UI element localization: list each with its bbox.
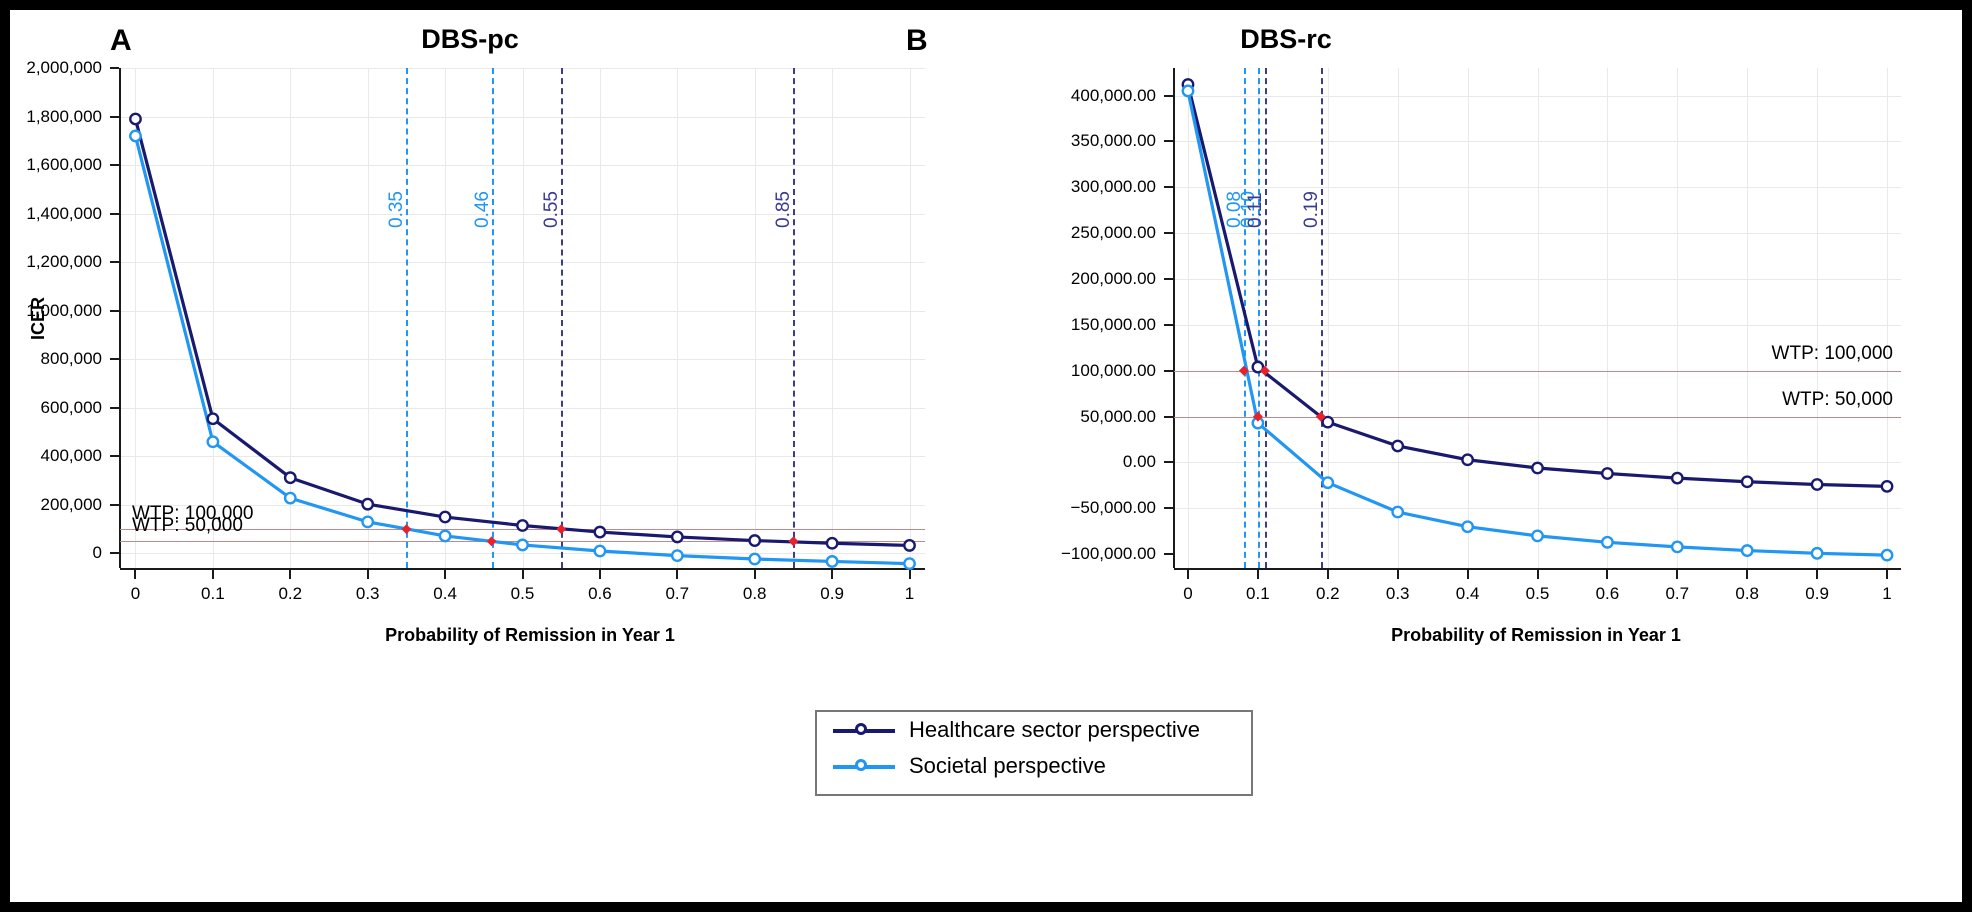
y-axis-tick — [1164, 416, 1173, 418]
series-marker — [1812, 548, 1822, 558]
intersection-marker — [487, 536, 497, 546]
y-axis-tick — [1164, 278, 1173, 280]
series-marker — [595, 527, 605, 537]
y-axis-tick-label: 100,000.00 — [990, 361, 1156, 381]
series-marker — [130, 131, 140, 141]
y-axis-tick — [110, 261, 119, 263]
x-axis-tick — [1606, 570, 1608, 579]
series-marker — [1742, 545, 1752, 555]
series-layer — [120, 68, 925, 568]
y-axis-tick — [1164, 370, 1173, 372]
panel-a-letter: A — [110, 24, 132, 58]
x-axis-tick — [754, 570, 756, 579]
x-axis-tick — [212, 570, 214, 579]
series-marker — [827, 556, 837, 566]
y-axis-tick — [1164, 553, 1173, 555]
figure-frame: A DBS-pc ICER Probability of Remission i… — [0, 0, 1972, 912]
x-axis-tick-label: 0.8 — [1735, 584, 1759, 604]
y-axis-tick — [110, 116, 119, 118]
panel-b-title: DBS-rc — [1076, 24, 1496, 55]
series-marker — [1602, 537, 1612, 547]
series-marker — [1183, 86, 1193, 96]
x-axis-tick — [367, 570, 369, 579]
series-marker — [517, 540, 527, 550]
legend-line-marker-icon — [833, 720, 895, 740]
x-axis-tick — [1886, 570, 1888, 579]
intersection-marker — [401, 524, 411, 534]
x-axis-tick-label: 0.6 — [588, 584, 612, 604]
y-axis-tick-label: −100,000.00 — [990, 544, 1156, 564]
x-axis-tick — [676, 570, 678, 579]
panel-b-letter: B — [906, 24, 928, 58]
series-marker — [672, 550, 682, 560]
x-axis-tick-label: 0.9 — [1805, 584, 1829, 604]
series-marker — [285, 493, 295, 503]
x-axis-tick — [909, 570, 911, 579]
legend: Healthcare sector perspectiveSocietal pe… — [815, 710, 1253, 796]
series-marker — [1812, 479, 1822, 489]
series-marker — [904, 540, 914, 550]
y-axis-tick-label: 1,000,000 — [14, 301, 102, 321]
y-axis-tick-label: 400,000 — [14, 446, 102, 466]
x-axis-tick — [1816, 570, 1818, 579]
series-marker — [1882, 481, 1892, 491]
x-axis-tick-label: 0.1 — [201, 584, 225, 604]
series-marker — [1323, 417, 1333, 427]
x-axis-tick-label: 0.2 — [1316, 584, 1340, 604]
y-axis-tick — [1164, 186, 1173, 188]
y-axis-tick-label: 150,000.00 — [990, 315, 1156, 335]
series-marker — [362, 499, 372, 509]
x-axis-tick — [1257, 570, 1259, 579]
intersection-marker — [788, 536, 798, 546]
y-axis-tick-label: 200,000.00 — [990, 269, 1156, 289]
x-axis-tick — [1467, 570, 1469, 579]
y-axis-tick-label: 2,000,000 — [14, 58, 102, 78]
x-axis-tick — [1746, 570, 1748, 579]
x-axis-tick — [1327, 570, 1329, 579]
series-marker — [285, 473, 295, 483]
y-axis-tick — [110, 358, 119, 360]
x-axis-tick-label: 0.1 — [1246, 584, 1270, 604]
series-marker — [517, 520, 527, 530]
y-axis-tick-label: 1,600,000 — [14, 155, 102, 175]
series-line — [1188, 91, 1887, 555]
series-marker — [208, 414, 218, 424]
series-marker — [595, 546, 605, 556]
y-axis-tick-label: 200,000 — [14, 495, 102, 515]
y-axis-tick — [110, 213, 119, 215]
x-axis-tick — [831, 570, 833, 579]
y-axis-tick-label: 50,000.00 — [990, 407, 1156, 427]
series-layer — [1174, 68, 1901, 568]
y-axis-tick — [1164, 461, 1173, 463]
series-marker — [1392, 441, 1402, 451]
series-marker — [1672, 542, 1682, 552]
y-axis-tick — [1164, 232, 1173, 234]
series-marker — [130, 114, 140, 124]
y-axis-tick — [110, 504, 119, 506]
y-axis-tick-label: −50,000.00 — [990, 498, 1156, 518]
x-axis-tick — [1676, 570, 1678, 579]
x-axis-tick-label: 1 — [905, 584, 914, 604]
x-axis-tick-label: 0 — [1183, 584, 1192, 604]
series-marker — [904, 558, 914, 568]
panel-a-plot-area: 0200,000400,000600,000800,0001,000,0001,… — [120, 68, 925, 568]
x-axis-tick-label: 1 — [1882, 584, 1891, 604]
x-axis-tick-label: 0 — [131, 584, 140, 604]
series-marker — [440, 531, 450, 541]
x-axis-tick — [1397, 570, 1399, 579]
series-marker — [208, 437, 218, 447]
y-axis-tick — [1164, 324, 1173, 326]
y-axis-tick-label: 600,000 — [14, 398, 102, 418]
series-marker — [1742, 477, 1752, 487]
x-axis-tick — [522, 570, 524, 579]
series-marker — [1672, 473, 1682, 483]
y-axis-tick-label: 1,800,000 — [14, 107, 102, 127]
figure-canvas: A DBS-pc ICER Probability of Remission i… — [10, 10, 1962, 902]
x-axis-tick-label: 0.5 — [511, 584, 535, 604]
y-axis-tick — [1164, 140, 1173, 142]
legend-item: Societal perspective — [817, 748, 1251, 784]
x-axis-tick-label: 0.6 — [1596, 584, 1620, 604]
x-axis-tick — [1537, 570, 1539, 579]
x-axis-tick-label: 0.3 — [356, 584, 380, 604]
series-marker — [1462, 522, 1472, 532]
y-axis-tick — [1164, 95, 1173, 97]
series-marker — [1602, 468, 1612, 478]
y-axis-tick — [1164, 507, 1173, 509]
y-axis-tick-label: 1,200,000 — [14, 252, 102, 272]
series-marker — [750, 535, 760, 545]
y-axis-tick-label: 350,000.00 — [990, 131, 1156, 151]
x-axis-tick-label: 0.7 — [1665, 584, 1689, 604]
x-axis-tick-label: 0.4 — [1456, 584, 1480, 604]
series-line — [1188, 85, 1887, 487]
panel-b-x-axis-title: Probability of Remission in Year 1 — [1316, 625, 1756, 646]
series-marker — [1532, 531, 1542, 541]
series-marker — [1392, 507, 1402, 517]
panel-a-title: DBS-pc — [260, 24, 680, 55]
x-axis-tick-label: 0.7 — [665, 584, 689, 604]
legend-item-label: Societal perspective — [909, 753, 1106, 779]
legend-line-marker-icon — [833, 756, 895, 776]
series-marker — [1882, 550, 1892, 560]
y-axis-tick-label: 400,000.00 — [990, 86, 1156, 106]
y-axis-tick — [110, 67, 119, 69]
y-axis-tick-label: 1,400,000 — [14, 204, 102, 224]
y-axis-tick-label: 0.00 — [990, 452, 1156, 472]
legend-item-label: Healthcare sector perspective — [909, 717, 1200, 743]
y-axis-tick — [110, 164, 119, 166]
y-axis-tick — [110, 407, 119, 409]
x-axis-tick — [599, 570, 601, 579]
y-axis-tick — [110, 552, 119, 554]
y-axis-tick — [110, 455, 119, 457]
series-line — [135, 119, 909, 545]
x-axis-tick — [444, 570, 446, 579]
series-marker — [1532, 463, 1542, 473]
x-axis-tick-label: 0.2 — [278, 584, 302, 604]
x-axis-tick-label: 0.9 — [820, 584, 844, 604]
series-marker — [672, 532, 682, 542]
y-axis-tick-label: 300,000.00 — [990, 177, 1156, 197]
x-axis-tick — [134, 570, 136, 579]
panel-a-x-axis-title: Probability of Remission in Year 1 — [310, 625, 750, 646]
panel-b-plot-area: −50,000.000.0050,000.00100,000.00150,000… — [1174, 68, 1901, 568]
x-axis-tick-label: 0.5 — [1526, 584, 1550, 604]
y-axis-tick-label: 800,000 — [14, 349, 102, 369]
y-axis-tick-label: 0 — [14, 543, 102, 563]
legend-item: Healthcare sector perspective — [817, 712, 1251, 748]
series-marker — [1323, 477, 1333, 487]
x-axis-tick-label: 0.3 — [1386, 584, 1410, 604]
y-axis-tick — [110, 310, 119, 312]
x-axis-tick-label: 0.8 — [743, 584, 767, 604]
series-marker — [362, 517, 372, 527]
x-axis-tick — [1187, 570, 1189, 579]
x-axis-tick — [289, 570, 291, 579]
series-marker — [440, 512, 450, 522]
x-axis-tick-label: 0.4 — [433, 584, 457, 604]
series-marker — [1462, 455, 1472, 465]
series-line — [135, 136, 909, 564]
intersection-marker — [556, 524, 566, 534]
series-marker — [827, 538, 837, 548]
y-axis-tick-label: 250,000.00 — [990, 223, 1156, 243]
series-marker — [750, 554, 760, 564]
